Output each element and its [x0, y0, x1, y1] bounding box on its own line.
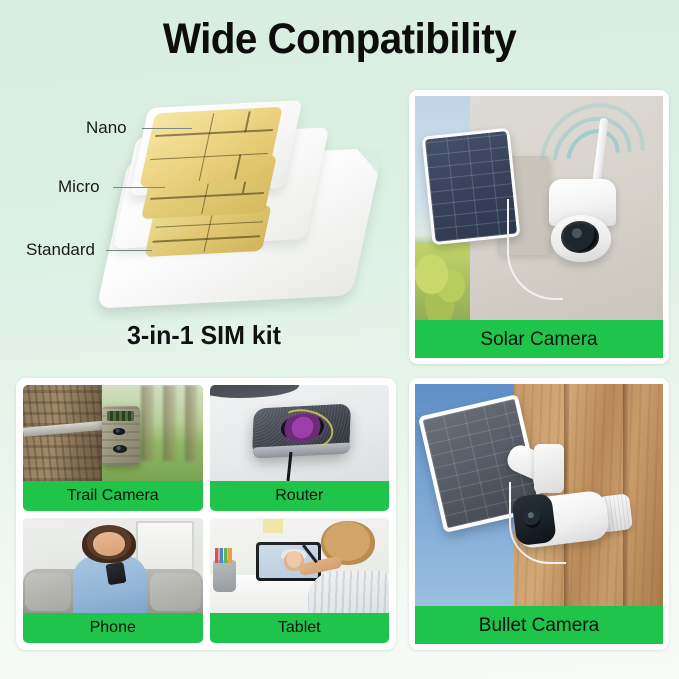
- panel-label-solar-camera: Solar Camera: [415, 320, 663, 358]
- nano-sim-chip: [139, 107, 283, 187]
- panel-phone[interactable]: Phone: [23, 518, 203, 644]
- leader-line-nano: [142, 128, 192, 129]
- background-trunk-3: [185, 385, 198, 461]
- smartphone-device: [106, 562, 127, 586]
- pencils: [215, 548, 235, 563]
- leader-line-micro: [113, 187, 165, 188]
- sofa-cushion-right: [150, 573, 200, 611]
- panel-trail-camera[interactable]: Trail Camera: [23, 385, 203, 511]
- sim-label-standard: Standard: [26, 240, 95, 260]
- router-photo: [210, 385, 390, 481]
- trail-camera-scene: [23, 385, 203, 481]
- panel-label-trail-camera: Trail Camera: [23, 481, 203, 511]
- background-trunk-2: [163, 385, 176, 461]
- leader-line-standard: [106, 250, 152, 251]
- panel-tablet[interactable]: Tablet: [210, 518, 390, 644]
- phone-photo: [23, 518, 203, 614]
- solar-panel-icon: [422, 128, 521, 246]
- router-scene: [210, 385, 390, 481]
- bullet-camera-photo: [415, 384, 663, 606]
- tablet-photo: [210, 518, 390, 614]
- sensor-lens-icon: [113, 445, 127, 453]
- tablet-scene: [210, 518, 390, 614]
- phone-scene: [23, 518, 203, 614]
- camera-lens-icon: [113, 428, 126, 435]
- bullet-camera-scene: [415, 384, 663, 606]
- pencil-cup: [213, 560, 236, 592]
- camera-lens-icon: [561, 221, 598, 252]
- person-face: [93, 532, 125, 556]
- panel-label-phone: Phone: [23, 613, 203, 643]
- infographic-root: Wide Compatibility: [0, 0, 679, 679]
- panel-bullet-camera[interactable]: Bullet Camera: [409, 378, 669, 650]
- sim-label-standard-text: Standard: [26, 240, 95, 259]
- device-grid: Trail Camera Router: [16, 378, 396, 650]
- sim-label-micro: Micro: [58, 177, 100, 197]
- sim-kit-section: Nano Micro Standard 3-in-1 SIM kit: [8, 92, 400, 364]
- sofa-cushion-left: [25, 573, 72, 611]
- panel-label-bullet-camera: Bullet Camera: [415, 606, 663, 644]
- panel-label-router: Router: [210, 481, 390, 511]
- panel-router[interactable]: Router: [210, 385, 390, 511]
- background-trunk-1: [141, 385, 154, 461]
- sim-label-nano-text: Nano: [86, 118, 127, 137]
- page-title: Wide Compatibility: [20, 18, 658, 61]
- panel-solar-camera[interactable]: Solar Camera: [409, 90, 669, 364]
- child-torso: [308, 571, 389, 613]
- sim-card-illustration: Nano Micro Standard: [8, 92, 400, 320]
- solar-camera-photo: [415, 96, 663, 320]
- trail-camera-photo: [23, 385, 203, 481]
- solar-camera-scene: [415, 96, 663, 320]
- panel-label-tablet: Tablet: [210, 613, 390, 643]
- foliage: [415, 244, 470, 320]
- infrared-led-array: [107, 411, 134, 422]
- sticky-note: [263, 519, 283, 532]
- sim-label-nano: Nano: [86, 118, 127, 138]
- sim-kit-caption: 3-in-1 SIM kit: [16, 320, 392, 351]
- sim-label-micro-text: Micro: [58, 177, 100, 196]
